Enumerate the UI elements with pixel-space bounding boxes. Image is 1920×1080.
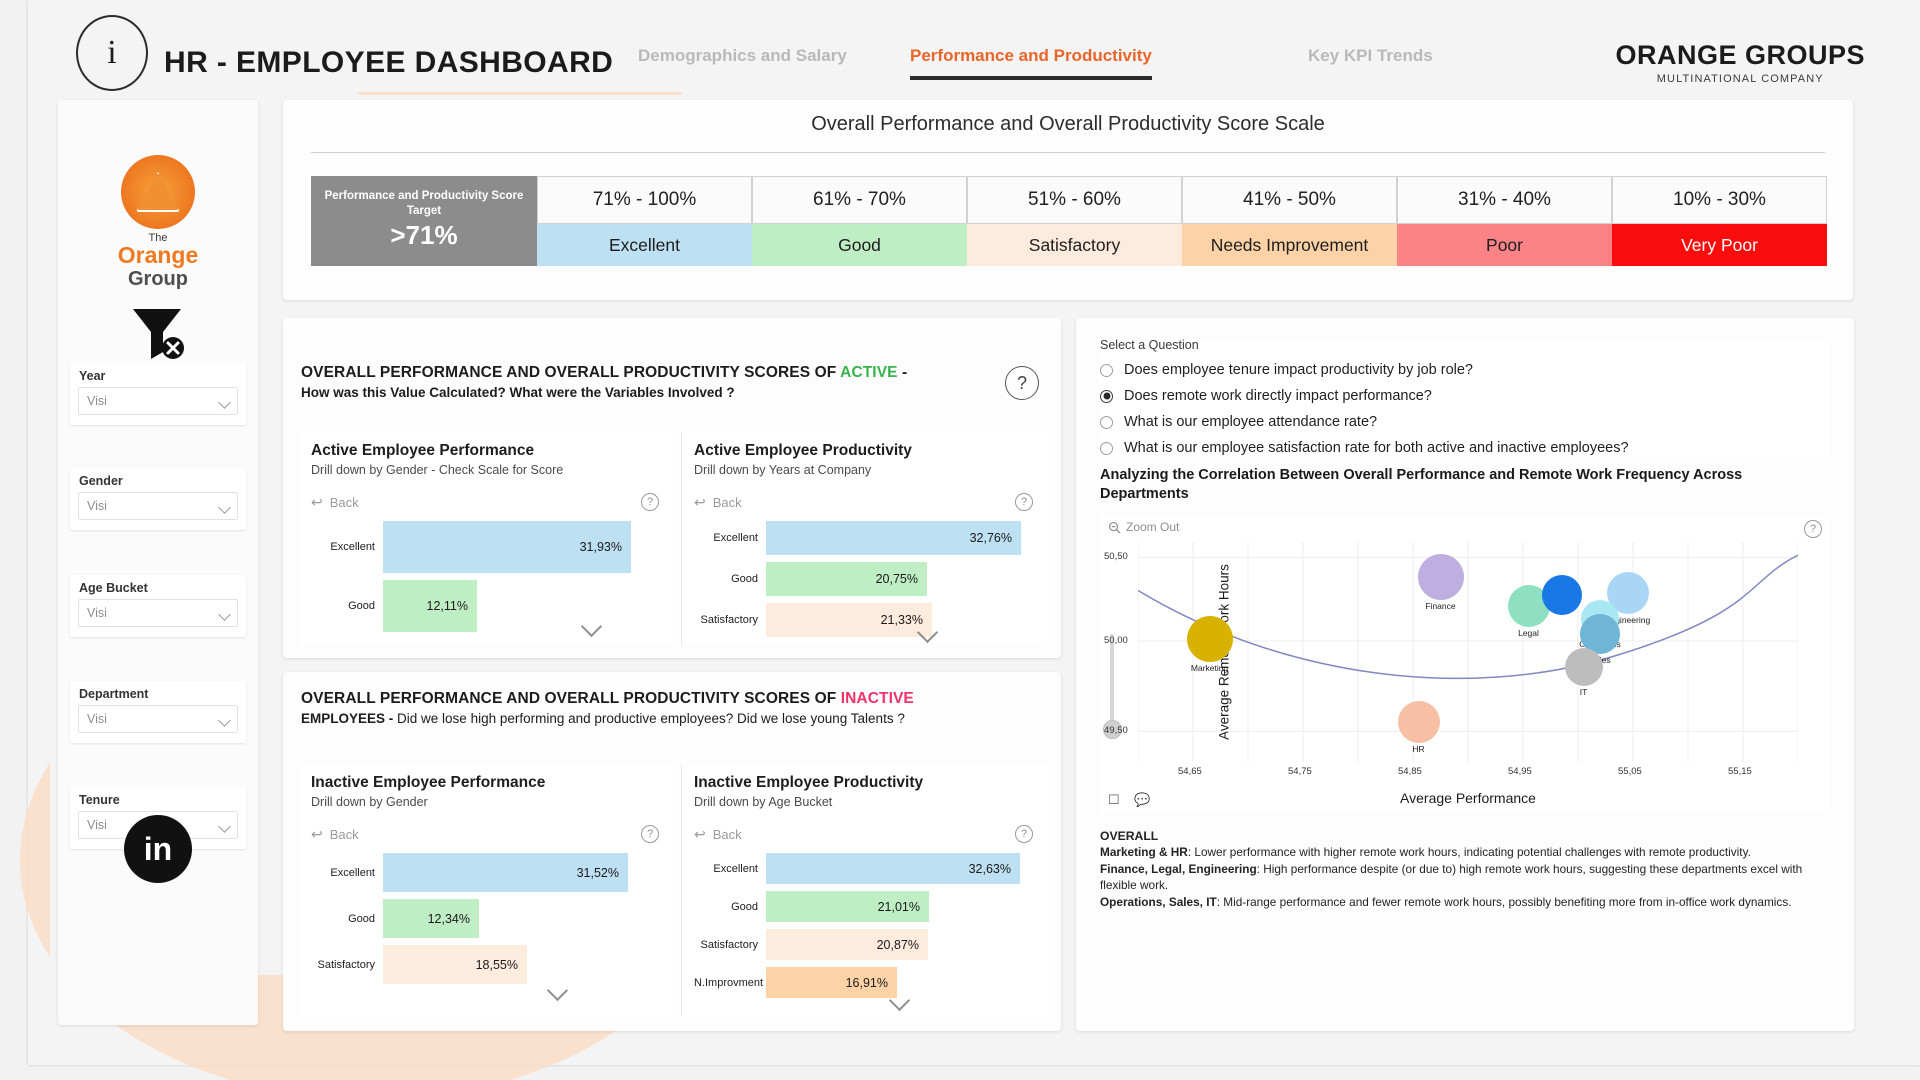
inactive-heading-prefix: OVERALL PERFORMANCE AND OVERALL PRODUCTI… (301, 690, 841, 707)
inactive-productivity-back-row: ↩ Back ? (694, 821, 1035, 847)
question-option-label: Does remote work directly impact perform… (1124, 388, 1432, 404)
bar-row[interactable]: Excellent31,52% (311, 853, 661, 892)
inactive-productivity-bars: Excellent32,63%Good21,01%Satisfactory20,… (694, 853, 1035, 998)
inactive-scores-card: OVERALL PERFORMANCE AND OVERALL PRODUCTI… (283, 672, 1061, 1031)
score-scale-table: Performance and Productivity Score Targe… (311, 176, 1827, 266)
help-icon[interactable]: ? (1005, 366, 1039, 400)
score-target-caption: Performance and Productivity Score Targe… (317, 189, 531, 218)
active-productivity-bars: Excellent32,76%Good20,75%Satisfactory21,… (694, 521, 1035, 637)
inactive-performance-subtitle: Drill down by Gender (311, 795, 661, 809)
orange-group-mark-icon (121, 155, 195, 229)
radio-button[interactable] (1100, 364, 1113, 377)
help-icon[interactable]: ? (1015, 825, 1033, 843)
scatter-bubble-label: Marketing (1191, 663, 1228, 673)
filter-department-select[interactable]: Visi (78, 705, 238, 733)
scatter-bubble-label: Legal (1518, 628, 1539, 638)
bar-category-label: Satisfactory (311, 959, 383, 971)
bar-category-label: Good (694, 901, 766, 913)
back-arrow-icon[interactable]: ↩ (694, 826, 706, 843)
insight-row-text: : Lower performance with higher remote w… (1188, 845, 1751, 859)
active-productivity-back-row: ↩ Back ? (694, 489, 1035, 515)
inactive-productivity-visual: Inactive Employee Productivity Drill dow… (681, 764, 1047, 1016)
scatter-bubble-label: IT (1580, 687, 1588, 697)
company-logo: The Orange Group (58, 155, 258, 290)
score-rating-cell: Excellent (537, 224, 752, 266)
inactive-performance-bars: Excellent31,52%Good12,34%Satisfactory18,… (311, 853, 661, 984)
scatter-bubble[interactable] (1187, 616, 1233, 662)
bar-track: 31,52% (383, 853, 661, 892)
bar-row[interactable]: Excellent32,76% (694, 521, 1035, 555)
bar-value-label: 12,11% (427, 599, 468, 613)
question-and-analysis-panel: Select a Question Does employee tenure i… (1076, 318, 1854, 1031)
active-productivity-back-label[interactable]: Back (713, 495, 742, 510)
active-performance-subtitle: Drill down by Gender - Check Scale for S… (311, 463, 661, 477)
filter-gender-label: Gender (79, 474, 123, 488)
zoom-slider-track[interactable] (1110, 634, 1114, 722)
insights-rows: Marketing & HR: Lower performance with h… (1100, 845, 1830, 910)
filter-age-bucket-value: Visi (87, 606, 107, 620)
bar-category-label: Excellent (694, 863, 766, 875)
filter-tenure-label: Tenure (79, 793, 120, 807)
x-axis-tick: 54,85 (1398, 766, 1422, 777)
scatter-bubble[interactable] (1398, 701, 1440, 743)
bar-track: 21,33% (766, 603, 1035, 637)
bar-row[interactable]: Excellent32,63% (694, 853, 1035, 884)
bar-category-label: Excellent (311, 541, 383, 553)
score-rating-cell: Good (752, 224, 967, 266)
scatter-plot-area[interactable]: Average Remote Work Hours Average Perfor… (1138, 542, 1798, 762)
divider (311, 152, 1825, 153)
score-scale-column: 41% - 50%Needs Improvement (1182, 176, 1397, 266)
zoom-out-label: Zoom Out (1126, 520, 1179, 534)
score-target-cell: Performance and Productivity Score Targe… (311, 176, 537, 266)
back-arrow-icon[interactable]: ↩ (311, 494, 323, 511)
insight-row-label: Operations, Sales, IT (1100, 895, 1217, 909)
filter-department-label: Department (79, 687, 148, 701)
brand-logo: ORANGE GROUPS MULTINATIONAL COMPANY (1615, 40, 1865, 85)
filter-gender-select[interactable]: Visi (78, 492, 238, 520)
bar-track: 32,63% (766, 853, 1035, 884)
x-axis-tick: 54,75 (1288, 766, 1312, 777)
inactive-performance-visual: Inactive Employee Performance Drill down… (299, 764, 673, 1016)
focus-mode-icon[interactable]: ☐ (1108, 792, 1120, 808)
bar[interactable]: 12,11% (383, 580, 477, 632)
question-option-0[interactable]: Does employee tenure impact productivity… (1100, 362, 1830, 378)
bar-value-label: 20,87% (877, 938, 919, 952)
insight-row-label: Finance, Legal, Engineering (1100, 862, 1257, 876)
info-icon[interactable]: i (76, 15, 148, 91)
insight-row: Finance, Legal, Engineering: High perfor… (1100, 862, 1830, 894)
insight-row-text: : Mid-range performance and fewer remote… (1217, 895, 1792, 909)
logo-line-orange: Orange (58, 244, 258, 268)
bar-category-label: Good (694, 573, 766, 585)
scatter-bubble[interactable] (1418, 554, 1464, 600)
active-subheading: How was this Value Calculated? What were… (301, 385, 735, 400)
chevron-down-icon (218, 501, 231, 514)
score-scale-card: Overall Performance and Overall Producti… (283, 100, 1853, 300)
filter-age-bucket-label: Age Bucket (79, 581, 148, 595)
page-title: HR - EMPLOYEE DASHBOARD (164, 46, 613, 80)
scatter-x-axis-title: Average Performance (1400, 790, 1536, 806)
question-option-1[interactable]: Does remote work directly impact perform… (1100, 388, 1830, 404)
bar[interactable]: 21,01% (766, 891, 929, 922)
bar-row[interactable]: Satisfactory21,33% (694, 603, 1035, 637)
help-icon[interactable]: ? (641, 825, 659, 843)
score-rating-cell: Needs Improvement (1182, 224, 1397, 266)
score-target-value: >71% (390, 220, 457, 251)
bar-track: 20,75% (766, 562, 1035, 596)
bar-row[interactable]: Good21,01% (694, 891, 1035, 922)
bar-track: 31,93% (383, 521, 661, 573)
x-axis-tick: 54,65 (1178, 766, 1202, 777)
help-icon[interactable]: ? (1804, 520, 1822, 538)
bar-track: 12,11% (383, 580, 661, 632)
question-prompt: Select a Question (1100, 338, 1830, 352)
logo-line-group: Group (58, 268, 258, 290)
scatter-bubble[interactable] (1565, 648, 1603, 686)
bar-value-label: 18,55% (476, 958, 518, 972)
bar[interactable]: 20,87% (766, 929, 928, 960)
radio-button[interactable] (1100, 416, 1113, 429)
bar-track: 20,87% (766, 929, 1035, 960)
bar-row[interactable]: Good12,11% (311, 580, 661, 632)
insights-heading: OVERALL (1100, 828, 1830, 844)
tab-demographics-and-salary[interactable]: Demographics and Salary (638, 46, 847, 66)
bar-category-label: Satisfactory (694, 939, 766, 951)
bar-row[interactable]: Excellent31,93% (311, 521, 661, 573)
chevron-down-icon (218, 396, 231, 409)
linkedin-icon[interactable]: in (124, 815, 192, 883)
scatter-chart: Zoom Out ? ☐ 💬 Average Remote Work Hours… (1100, 514, 1830, 814)
score-range-cell: 10% - 30% (1612, 176, 1827, 224)
filter-age-bucket-select[interactable]: Visi (78, 599, 238, 627)
insight-row-label: Marketing & HR (1100, 845, 1188, 859)
score-scale-column: 51% - 60%Satisfactory (967, 176, 1182, 266)
bar-category-label: Excellent (694, 532, 766, 544)
bar-value-label: 21,33% (881, 613, 923, 627)
chevron-down-icon (218, 820, 231, 833)
insights-block: OVERALL Marketing & HR: Lower performanc… (1100, 828, 1830, 911)
bar[interactable]: 12,34% (383, 899, 479, 938)
zoom-out-button[interactable]: Zoom Out (1108, 520, 1179, 534)
active-performance-back-label[interactable]: Back (330, 495, 359, 510)
inactive-performance-back-row: ↩ Back ? (311, 821, 661, 847)
inactive-productivity-subtitle: Drill down by Age Bucket (694, 795, 1035, 809)
bar[interactable]: 18,55% (383, 945, 527, 984)
bar-category-label: Excellent (311, 867, 383, 879)
y-axis-tick: 49,50 (1104, 725, 1128, 736)
brand-tagline: MULTINATIONAL COMPANY (1615, 73, 1865, 85)
scatter-bubble-label: HR (1412, 744, 1424, 754)
dashboard-canvas: i HR - EMPLOYEE DASHBOARD Demographics a… (0, 0, 1920, 1080)
brand-name: ORANGE GROUPS (1615, 40, 1865, 71)
score-scale-column: 31% - 40%Poor (1397, 176, 1612, 266)
bar-category-label: N.Improvment (694, 977, 766, 989)
scatter-grid-and-trendline (1138, 542, 1798, 762)
x-axis-tick: 55,15 (1728, 766, 1752, 777)
bar-value-label: 32,63% (969, 862, 1011, 876)
bar-row[interactable]: Satisfactory18,55% (311, 945, 661, 984)
y-axis-tick: 50,50 (1104, 551, 1128, 562)
bar-value-label: 20,75% (876, 572, 918, 586)
comment-icon[interactable]: 💬 (1134, 792, 1150, 808)
active-performance-title: Active Employee Performance (311, 442, 661, 460)
question-option-2[interactable]: What is our employee attendance rate? (1100, 414, 1830, 430)
tab-key-kpi-trends[interactable]: Key KPI Trends (1308, 46, 1433, 66)
bar-row[interactable]: Satisfactory20,87% (694, 929, 1035, 960)
inactive-section-heading: OVERALL PERFORMANCE AND OVERALL PRODUCTI… (301, 690, 1043, 726)
inactive-productivity-title: Inactive Employee Productivity (694, 774, 1035, 792)
question-option-label: What is our employee satisfaction rate f… (1124, 440, 1629, 456)
bar-category-label: Good (311, 913, 383, 925)
y-axis-tick: 50,00 (1104, 635, 1128, 646)
active-performance-visual: Active Employee Performance Drill down b… (299, 432, 673, 646)
filter-department: Department Visi (70, 681, 246, 743)
bar[interactable]: 20,75% (766, 562, 927, 596)
bar-value-label: 31,93% (580, 540, 622, 554)
score-scale-column: 61% - 70%Good (752, 176, 967, 266)
insight-row: Marketing & HR: Lower performance with h… (1100, 845, 1830, 861)
bar-value-label: 12,34% (428, 912, 470, 926)
score-scale-columns: 71% - 100%Excellent61% - 70%Good51% - 60… (537, 176, 1827, 266)
back-arrow-icon[interactable]: ↩ (311, 826, 323, 843)
active-section-heading: OVERALL PERFORMANCE AND OVERALL PRODUCTI… (301, 364, 991, 400)
score-rating-cell: Very Poor (1612, 224, 1827, 266)
question-option-label: Does employee tenure impact productivity… (1124, 362, 1473, 378)
filter-age-bucket: Age Bucket Visi (70, 575, 246, 637)
active-productivity-visual: Active Employee Productivity Drill down … (681, 432, 1047, 646)
score-scale-column: 71% - 100%Excellent (537, 176, 752, 266)
score-rating-cell: Poor (1397, 224, 1612, 266)
filter-clear-icon[interactable] (58, 305, 258, 368)
active-performance-back-row: ↩ Back ? (311, 489, 661, 515)
bar-value-label: 21,01% (878, 900, 920, 914)
filter-gender: Gender Visi (70, 468, 246, 530)
filter-year-label: Year (79, 369, 105, 383)
active-scores-card: OVERALL PERFORMANCE AND OVERALL PRODUCTI… (283, 318, 1061, 658)
tab-performance-and-productivity[interactable]: Performance and Productivity (910, 46, 1152, 66)
filter-department-value: Visi (87, 712, 107, 726)
scatter-bubble-label: Finance (1425, 601, 1455, 611)
score-range-cell: 71% - 100% (537, 176, 752, 224)
question-selector: Select a Question Does employee tenure i… (1100, 338, 1830, 456)
inactive-heading-line2-rest: Did we lose high performing and producti… (397, 711, 905, 726)
scatter-chart-title: Analyzing the Correlation Between Overal… (1100, 466, 1820, 504)
filter-year-value: Visi (87, 394, 107, 408)
help-icon[interactable]: ? (1015, 493, 1033, 511)
bar-track: 32,76% (766, 521, 1035, 555)
bar[interactable]: 31,52% (383, 853, 628, 892)
bar-row[interactable]: Good12,34% (311, 899, 661, 938)
bar-value-label: 16,91% (846, 976, 888, 990)
nav-tabs: Demographics and Salary Performance and … (638, 46, 1538, 90)
filter-year-select[interactable]: Visi (78, 387, 238, 415)
score-range-cell: 61% - 70% (752, 176, 967, 224)
active-productivity-title: Active Employee Productivity (694, 442, 1035, 460)
active-productivity-subtitle: Drill down by Years at Company (694, 463, 1035, 477)
score-rating-cell: Satisfactory (967, 224, 1182, 266)
chevron-down-icon (218, 608, 231, 621)
bar-row[interactable]: Good20,75% (694, 562, 1035, 596)
chevron-down-icon (218, 714, 231, 727)
score-range-cell: 51% - 60% (967, 176, 1182, 224)
inactive-productivity-back-label[interactable]: Back (713, 827, 742, 842)
filter-year: Year Visi (70, 363, 246, 425)
bar-value-label: 32,76% (970, 531, 1012, 545)
question-options: Does employee tenure impact productivity… (1100, 362, 1830, 456)
filter-sidebar: The Orange Group Year Visi Gender Visi (58, 100, 258, 1025)
score-scale-title: Overall Performance and Overall Producti… (283, 113, 1853, 136)
x-axis-tick: 55,05 (1618, 766, 1642, 777)
bar[interactable]: 31,93% (383, 521, 631, 573)
question-option-3[interactable]: What is our employee satisfaction rate f… (1100, 440, 1830, 456)
bar-track: 12,34% (383, 899, 661, 938)
score-range-cell: 41% - 50% (1182, 176, 1397, 224)
question-option-label: What is our employee attendance rate? (1124, 414, 1377, 430)
bar[interactable]: 21,33% (766, 603, 932, 637)
app-header: i HR - EMPLOYEE DASHBOARD Demographics a… (28, 0, 1920, 92)
active-performance-bars: Excellent31,93%Good12,11% (311, 521, 661, 632)
back-arrow-icon[interactable]: ↩ (694, 494, 706, 511)
inactive-heading-accent: INACTIVE (841, 690, 914, 707)
bar[interactable]: 32,76% (766, 521, 1021, 555)
bar-track: 21,01% (766, 891, 1035, 922)
filter-gender-value: Visi (87, 499, 107, 513)
radio-button[interactable] (1100, 390, 1113, 403)
active-heading-accent: ACTIVE (840, 364, 897, 381)
x-axis-tick: 54,95 (1508, 766, 1532, 777)
bar-row[interactable]: N.Improvment16,91% (694, 967, 1035, 998)
bar[interactable]: 32,63% (766, 853, 1020, 884)
active-heading-prefix: OVERALL PERFORMANCE AND OVERALL PRODUCTI… (301, 364, 840, 381)
active-heading-suffix: - (898, 364, 908, 381)
insight-row: Operations, Sales, IT: Mid-range perform… (1100, 895, 1830, 911)
score-range-cell: 31% - 40% (1397, 176, 1612, 224)
bar[interactable]: 16,91% (766, 967, 897, 998)
filter-tenure-value: Visi (87, 818, 107, 832)
bar-category-label: Good (311, 600, 383, 612)
inactive-performance-title: Inactive Employee Performance (311, 774, 661, 792)
help-icon[interactable]: ? (641, 493, 659, 511)
radio-button[interactable] (1100, 442, 1113, 455)
score-scale-column: 10% - 30%Very Poor (1612, 176, 1827, 266)
inactive-heading-line2-bold: EMPLOYEES - (301, 711, 397, 726)
bar-track: 18,55% (383, 945, 661, 984)
inactive-performance-back-label[interactable]: Back (330, 827, 359, 842)
scatter-bubble[interactable] (1542, 575, 1582, 615)
bar-value-label: 31,52% (577, 866, 619, 880)
bar-category-label: Satisfactory (694, 614, 766, 626)
